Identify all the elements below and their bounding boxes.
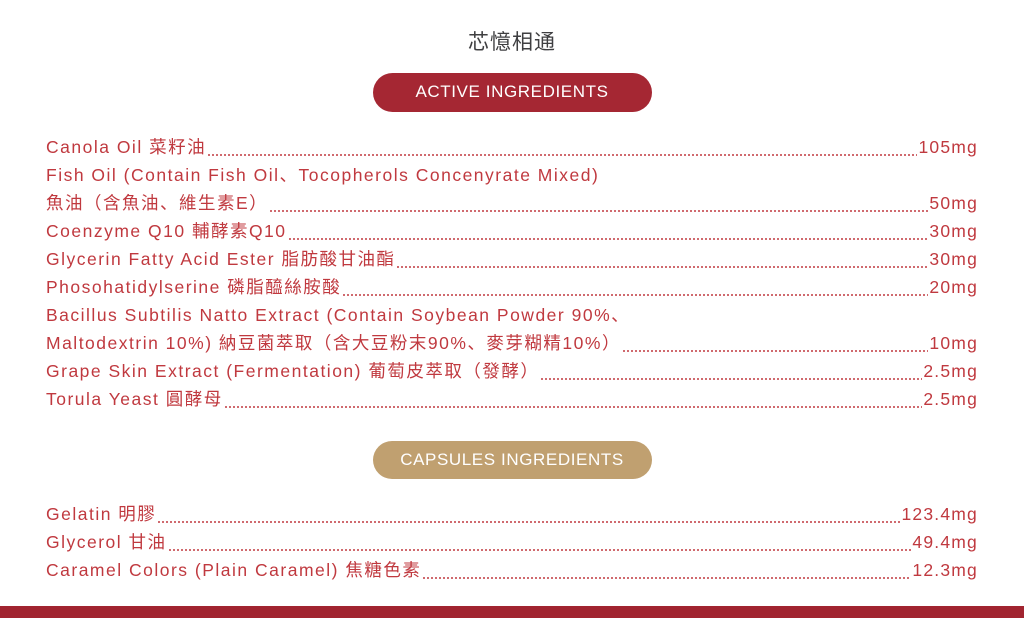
page-title: 芯憶相通 [0, 0, 1024, 55]
ingredient-label: Grape Skin Extract (Fermentation) 葡萄皮萃取（… [46, 357, 539, 385]
list-item: Bacillus Subtilis Natto Extract (Contain… [46, 301, 978, 357]
dot-leader [168, 536, 912, 553]
list-item: Caramel Colors (Plain Caramel) 焦糖色素 12.3… [46, 556, 978, 584]
ingredient-label: Glycerol 甘油 [46, 528, 167, 556]
ingredient-label: Canola Oil 菜籽油 [46, 133, 206, 161]
list-item: Fish Oil (Contain Fish Oil、Tocopherols C… [46, 161, 978, 217]
list-item: Torula Yeast 圓酵母 2.5mg [46, 385, 978, 413]
ingredient-value: 10mg [929, 329, 978, 357]
section-badge-capsules-ingredients: CAPSULES INGREDIENTS [373, 441, 652, 480]
ingredient-value: 30mg [929, 217, 978, 245]
ingredient-value: 12.3mg [912, 556, 978, 584]
ingredient-value: 30mg [929, 245, 978, 273]
active-badge-row: ACTIVE INGREDIENTS [0, 73, 1024, 112]
ingredient-label-line1: Fish Oil (Contain Fish Oil、Tocopherols C… [46, 161, 978, 189]
ingredient-value: 20mg [929, 273, 978, 301]
dot-leader [269, 197, 928, 214]
ingredient-value: 123.4mg [901, 500, 978, 528]
list-item: Phosohatidylserine 磷脂醯絲胺酸 20mg [46, 273, 978, 301]
ingredient-label: Caramel Colors (Plain Caramel) 焦糖色素 [46, 556, 421, 584]
dot-leader [157, 508, 900, 525]
capsules-badge-row: CAPSULES INGREDIENTS [0, 441, 1024, 480]
dot-leader [207, 141, 917, 158]
ingredient-label: Torula Yeast 圓酵母 [46, 385, 223, 413]
capsules-ingredients-list: Gelatin 明膠 123.4mg Glycerol 甘油 49.4mg Ca… [0, 500, 1024, 584]
bottom-accent-bar [0, 606, 1024, 618]
ingredient-value: 50mg [929, 189, 978, 217]
dot-leader [224, 393, 923, 410]
dot-leader [422, 564, 911, 581]
list-item: Canola Oil 菜籽油 105mg [46, 133, 978, 161]
ingredient-value: 2.5mg [923, 357, 978, 385]
ingredient-label: Glycerin Fatty Acid Ester 脂肪酸甘油酯 [46, 245, 395, 273]
list-item: Coenzyme Q10 輔酵素Q10 30mg [46, 217, 978, 245]
ingredient-value: 105mg [918, 133, 978, 161]
list-item: Glycerol 甘油 49.4mg [46, 528, 978, 556]
dot-leader [622, 337, 928, 354]
ingredient-row-line2: Maltodextrin 10%) 納豆菌萃取（含大豆粉末90%、麥芽糊精10%… [46, 329, 978, 357]
active-ingredients-list: Canola Oil 菜籽油 105mg Fish Oil (Contain F… [0, 133, 1024, 413]
ingredient-label-line1: Bacillus Subtilis Natto Extract (Contain… [46, 301, 978, 329]
ingredient-label: Coenzyme Q10 輔酵素Q10 [46, 217, 287, 245]
ingredient-label-line2: Maltodextrin 10%) 納豆菌萃取（含大豆粉末90%、麥芽糊精10%… [46, 329, 621, 357]
ingredient-value: 49.4mg [912, 528, 978, 556]
dot-leader [540, 365, 922, 382]
ingredient-row-line2: 魚油（含魚油、維生素E） 50mg [46, 189, 978, 217]
dot-leader [396, 253, 928, 270]
ingredient-label: Gelatin 明膠 [46, 500, 156, 528]
dot-leader [342, 281, 928, 298]
ingredient-value: 2.5mg [923, 385, 978, 413]
section-badge-active-ingredients: ACTIVE INGREDIENTS [373, 73, 652, 112]
dot-leader [288, 225, 929, 242]
list-item: Glycerin Fatty Acid Ester 脂肪酸甘油酯 30mg [46, 245, 978, 273]
ingredient-label: Phosohatidylserine 磷脂醯絲胺酸 [46, 273, 341, 301]
list-item: Grape Skin Extract (Fermentation) 葡萄皮萃取（… [46, 357, 978, 385]
list-item: Gelatin 明膠 123.4mg [46, 500, 978, 528]
ingredients-panel: 芯憶相通 ACTIVE INGREDIENTS Canola Oil 菜籽油 1… [0, 0, 1024, 618]
ingredient-label-line2: 魚油（含魚油、維生素E） [46, 189, 268, 217]
